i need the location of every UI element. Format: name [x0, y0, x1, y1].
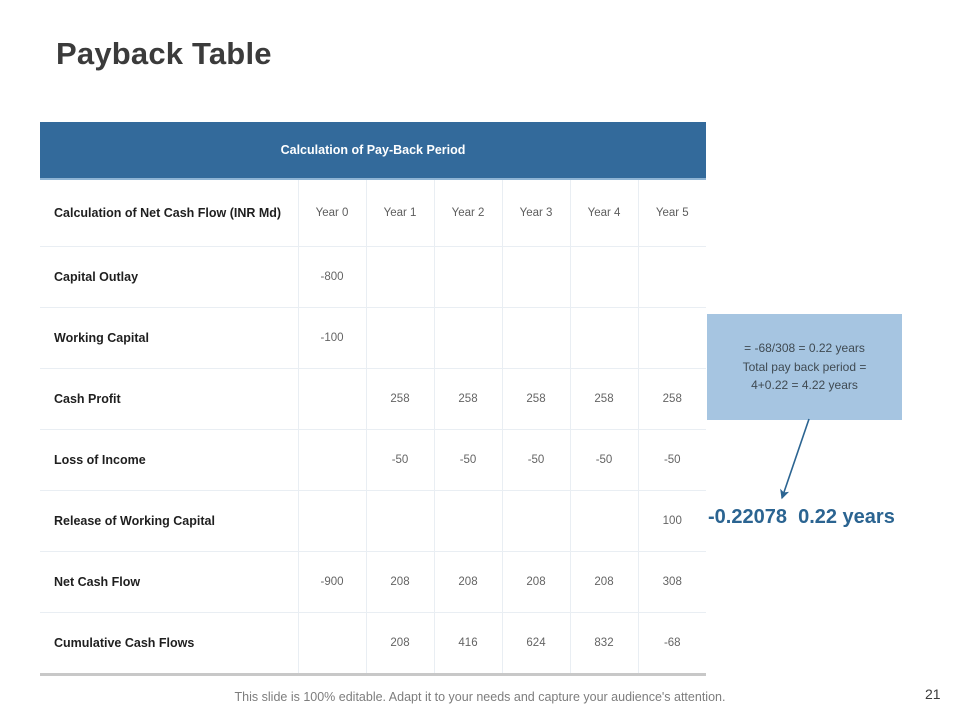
cell-capital-outlay-year-1 — [366, 247, 434, 308]
table-banner-title: Calculation of Pay-Back Period — [40, 122, 706, 180]
cell-capital-outlay-year-2 — [434, 247, 502, 308]
cell-loss-of-income-year-3: -50 — [502, 430, 570, 491]
cell-release-of-working-capital-year-5: 100 — [638, 491, 706, 552]
table-row: Net Cash Flow -900 208 208 208 208 308 — [40, 552, 706, 613]
cell-net-cash-flow-year-2: 208 — [434, 552, 502, 613]
row-label-release-of-working-capital: Release of Working Capital — [40, 491, 298, 552]
cell-working-capital-year-5 — [638, 308, 706, 369]
cell-working-capital-year-2 — [434, 308, 502, 369]
payback-callout-box: = -68/308 = 0.22 years Total pay back pe… — [707, 314, 902, 420]
table-row: Loss of Income -50 -50 -50 -50 -50 — [40, 430, 706, 491]
cell-cash-profit-year-2: 258 — [434, 369, 502, 430]
payback-table: Calculation of Pay-Back Period Calculati… — [40, 122, 706, 676]
cell-release-of-working-capital-year-1 — [366, 491, 434, 552]
cell-loss-of-income-year-4: -50 — [570, 430, 638, 491]
row-label-loss-of-income: Loss of Income — [40, 430, 298, 491]
page-number: 21 — [925, 686, 941, 702]
table-row: Cumulative Cash Flows 208 416 624 832 -6… — [40, 613, 706, 675]
cell-release-of-working-capital-year-2 — [434, 491, 502, 552]
table-row: Capital Outlay -800 — [40, 247, 706, 308]
row-label-cash-profit: Cash Profit — [40, 369, 298, 430]
cell-loss-of-income-year-5: -50 — [638, 430, 706, 491]
cell-cumulative-cash-flows-year-4: 832 — [570, 613, 638, 675]
cell-working-capital-year-0: -100 — [298, 308, 366, 369]
cell-loss-of-income-year-1: -50 — [366, 430, 434, 491]
column-header-year-1: Year 1 — [366, 180, 434, 247]
column-header-year-4: Year 4 — [570, 180, 638, 247]
cell-cash-profit-year-5: 258 — [638, 369, 706, 430]
column-header-year-0: Year 0 — [298, 180, 366, 247]
row-label-cumulative-cash-flows: Cumulative Cash Flows — [40, 613, 298, 675]
footer-note: This slide is 100% editable. Adapt it to… — [0, 690, 960, 704]
column-header-year-5: Year 5 — [638, 180, 706, 247]
cell-working-capital-year-3 — [502, 308, 570, 369]
payback-callout-text: = -68/308 = 0.22 years Total pay back pe… — [737, 339, 873, 395]
cell-cash-profit-year-3: 258 — [502, 369, 570, 430]
cell-net-cash-flow-year-3: 208 — [502, 552, 570, 613]
column-header-year-3: Year 3 — [502, 180, 570, 247]
table-row: Working Capital -100 — [40, 308, 706, 369]
cell-release-of-working-capital-year-0 — [298, 491, 366, 552]
row-label-working-capital: Working Capital — [40, 308, 298, 369]
table-row: Cash Profit 258 258 258 258 258 — [40, 369, 706, 430]
callout-arrow-icon — [760, 415, 830, 510]
cell-capital-outlay-year-0: -800 — [298, 247, 366, 308]
payback-answer-value: -0.22078 0.22 years — [708, 506, 895, 529]
cell-net-cash-flow-year-1: 208 — [366, 552, 434, 613]
cell-cumulative-cash-flows-year-3: 624 — [502, 613, 570, 675]
cell-release-of-working-capital-year-3 — [502, 491, 570, 552]
cell-cumulative-cash-flows-year-1: 208 — [366, 613, 434, 675]
cell-capital-outlay-year-3 — [502, 247, 570, 308]
cell-net-cash-flow-year-4: 208 — [570, 552, 638, 613]
cell-working-capital-year-4 — [570, 308, 638, 369]
table-row: Release of Working Capital 100 — [40, 491, 706, 552]
row-label-capital-outlay: Capital Outlay — [40, 247, 298, 308]
column-header-year-2: Year 2 — [434, 180, 502, 247]
cell-loss-of-income-year-0 — [298, 430, 366, 491]
cell-release-of-working-capital-year-4 — [570, 491, 638, 552]
row-label-net-cash-flow: Net Cash Flow — [40, 552, 298, 613]
cell-net-cash-flow-year-0: -900 — [298, 552, 366, 613]
cell-cash-profit-year-4: 258 — [570, 369, 638, 430]
cell-net-cash-flow-year-5: 308 — [638, 552, 706, 613]
cell-loss-of-income-year-2: -50 — [434, 430, 502, 491]
cell-capital-outlay-year-4 — [570, 247, 638, 308]
cell-working-capital-year-1 — [366, 308, 434, 369]
cell-cumulative-cash-flows-year-2: 416 — [434, 613, 502, 675]
cell-cash-profit-year-0 — [298, 369, 366, 430]
cell-cumulative-cash-flows-year-0 — [298, 613, 366, 675]
payback-data-table: Calculation of Net Cash Flow (INR Md) Ye… — [40, 180, 706, 676]
cell-cumulative-cash-flows-year-5: -68 — [638, 613, 706, 675]
table-header-row: Calculation of Net Cash Flow (INR Md) Ye… — [40, 180, 706, 247]
cell-cash-profit-year-1: 258 — [366, 369, 434, 430]
row-header-label: Calculation of Net Cash Flow (INR Md) — [40, 180, 298, 247]
page-title: Payback Table — [56, 36, 272, 72]
cell-capital-outlay-year-5 — [638, 247, 706, 308]
